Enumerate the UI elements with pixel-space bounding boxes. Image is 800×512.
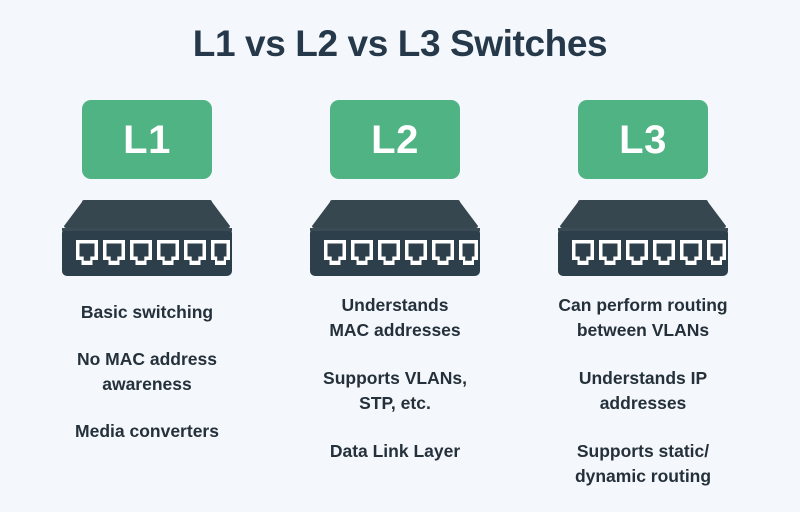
feature-item: Supports VLANs, STP, etc.	[323, 366, 467, 416]
feature-item: Understands MAC addresses	[329, 293, 460, 343]
switch-column-l1: L1	[23, 100, 271, 512]
feature-item: Supports static/ dynamic routing	[575, 439, 711, 489]
network-switch-icon	[550, 198, 736, 280]
feature-item: No MAC address awareness	[77, 347, 217, 397]
feature-item: Can perform routing between VLANs	[558, 293, 727, 343]
layer-badge-label: L3	[619, 120, 667, 160]
switch-comparison-columns: L1	[0, 100, 800, 512]
network-switch-icon	[54, 198, 240, 280]
layer-badge-l1: L1	[82, 100, 212, 179]
network-switch-icon	[302, 198, 488, 280]
layer-badge-label: L1	[123, 120, 171, 160]
feature-list-l2: Understands MAC addresses Supports VLANs…	[280, 293, 510, 487]
feature-item: Media converters	[75, 419, 219, 444]
layer-badge-label: L2	[371, 120, 419, 160]
feature-item: Basic switching	[81, 300, 213, 325]
page-title: L1 vs L2 vs L3 Switches	[0, 22, 800, 66]
feature-list-l1: Basic switching No MAC address awareness…	[32, 300, 262, 466]
layer-badge-l3: L3	[578, 100, 708, 179]
layer-badge-l2: L2	[330, 100, 460, 179]
switch-column-l3: L3	[519, 100, 767, 512]
infographic-canvas: L1 vs L2 vs L3 Switches L1	[0, 0, 800, 510]
feature-item: Data Link Layer	[330, 439, 460, 464]
feature-item: Understands IP addresses	[579, 366, 707, 416]
switch-column-l2: L2	[271, 100, 519, 512]
feature-list-l3: Can perform routing between VLANs Unders…	[528, 293, 758, 512]
